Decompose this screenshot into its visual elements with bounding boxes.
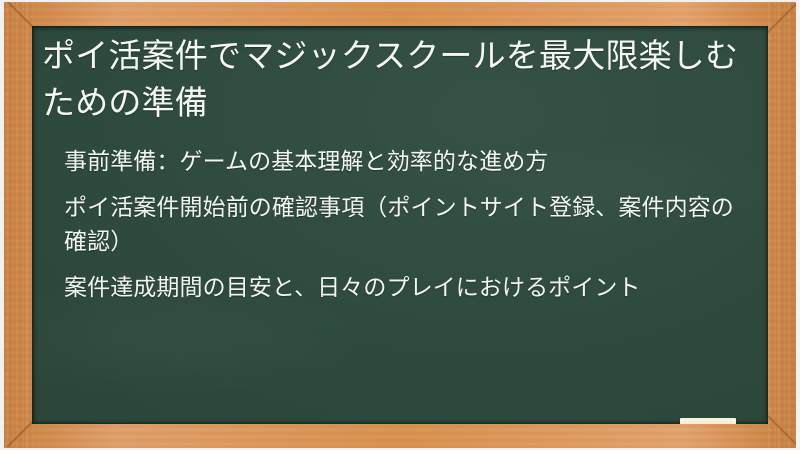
list-item: ポイ活案件開始前の確認事項（ポイントサイト登録、案件内容の確認） — [64, 190, 740, 258]
bullet-list: 事前準備：ゲームの基本理解と効率的な進め方 ポイ活案件開始前の確認事項（ポイント… — [38, 144, 750, 304]
list-item: 案件達成期間の目安と、日々のプレイにおけるポイント — [64, 270, 740, 304]
wooden-frame: ポイ活案件でマジックスクールを最大限楽しむための準備 事前準備：ゲームの基本理解… — [4, 2, 796, 448]
frame-grain-right — [766, 2, 796, 448]
slide-canvas: ポイ活案件でマジックスクールを最大限楽しむための準備 事前準備：ゲームの基本理解… — [0, 0, 800, 450]
list-item: 事前準備：ゲームの基本理解と効率的な進め方 — [64, 144, 740, 178]
chalkboard: ポイ活案件でマジックスクールを最大限楽しむための準備 事前準備：ゲームの基本理解… — [32, 26, 768, 424]
frame-grain-left — [4, 2, 34, 448]
chalk-stick-icon — [680, 418, 736, 424]
chalkboard-content: ポイ活案件でマジックスクールを最大限楽しむための準備 事前準備：ゲームの基本理解… — [32, 26, 768, 424]
page-title: ポイ活案件でマジックスクールを最大限楽しむための準備 — [38, 32, 750, 126]
